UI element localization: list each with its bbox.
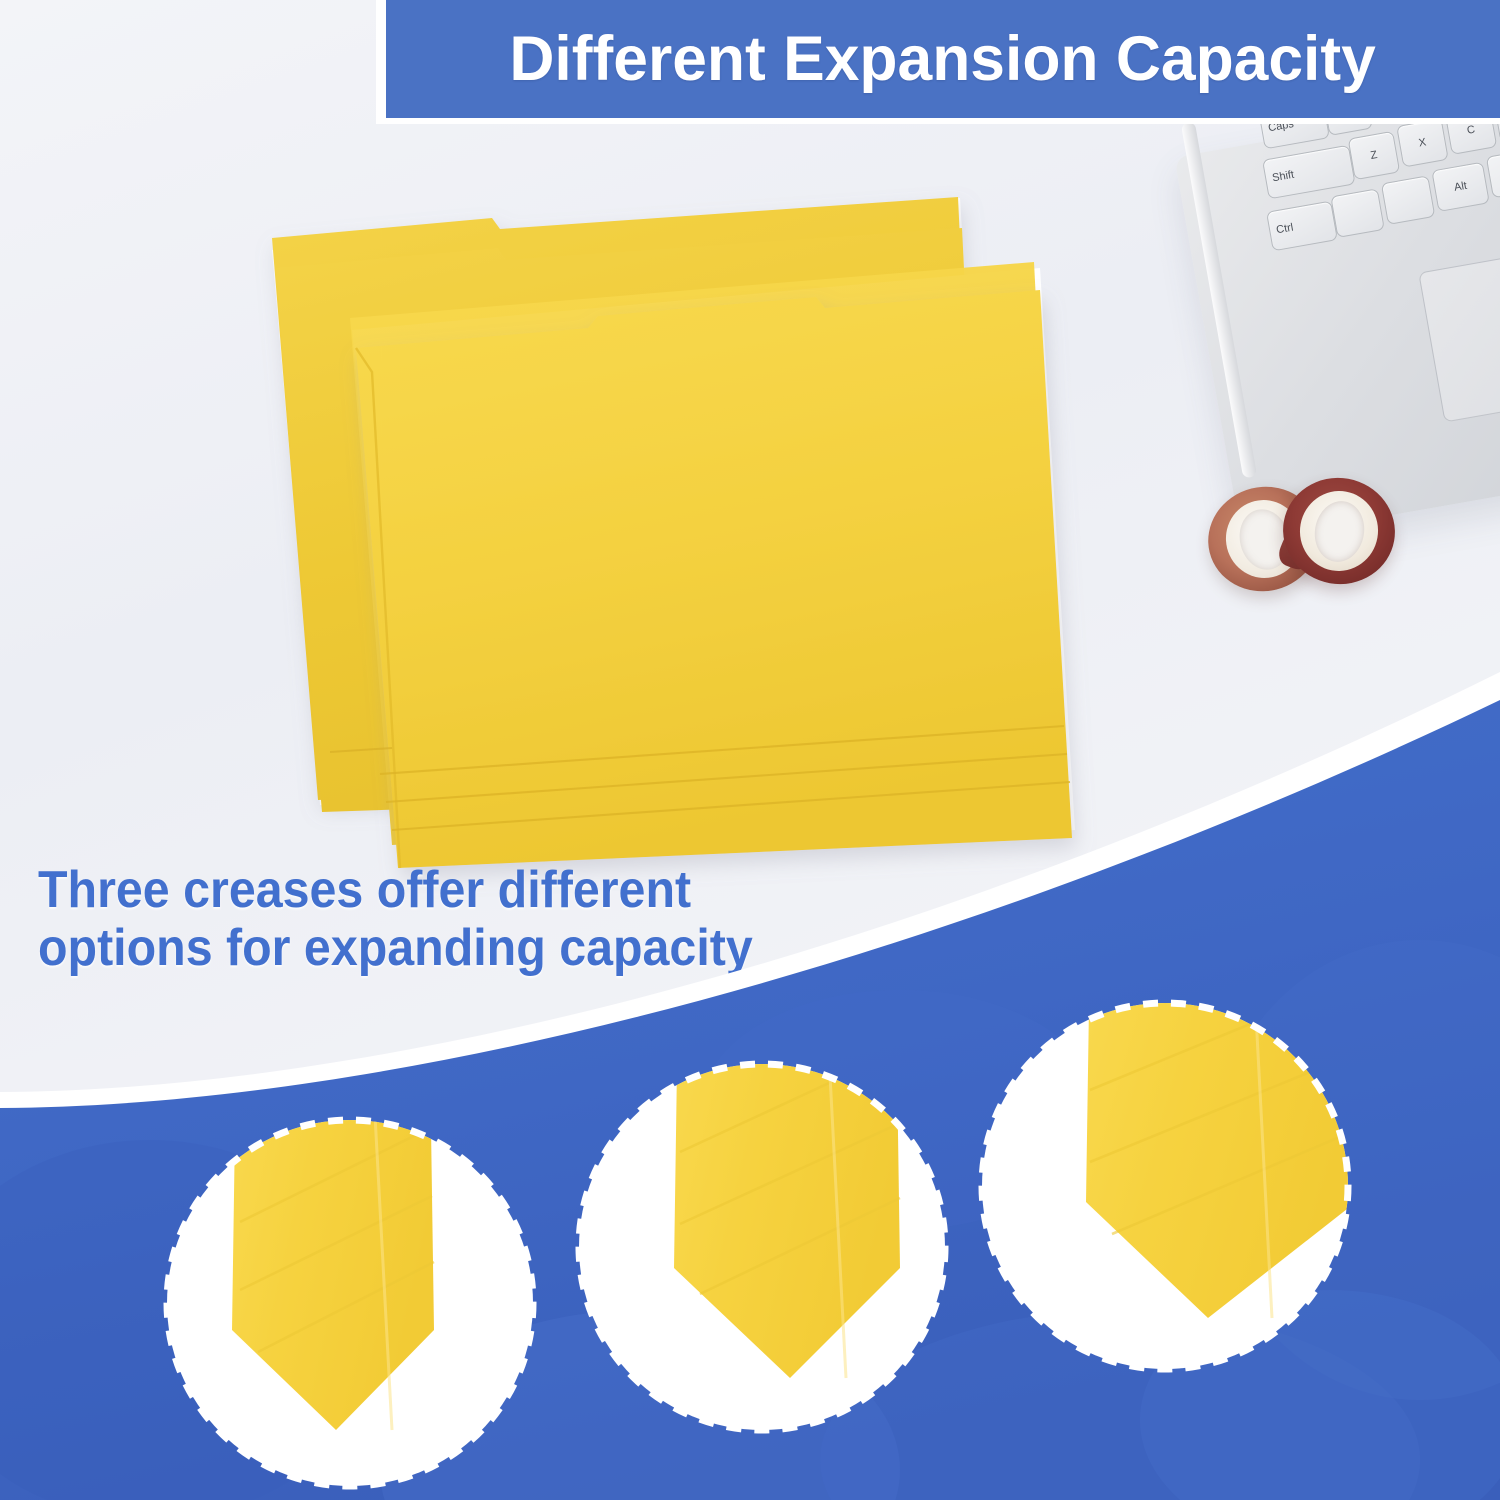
feature-caption-line-1: Three creases offer different <box>38 862 856 920</box>
header-banner: Different Expansion Capacity <box>386 0 1500 118</box>
page-title: Different Expansion Capacity <box>510 23 1376 95</box>
feature-caption: Three creases offer different options fo… <box>38 862 856 977</box>
crease-detail-circle-2-dashed-border <box>579 1064 945 1430</box>
front-folder-front-panel <box>356 290 1072 868</box>
infographic-root: Caps A Shift Z X C Ctrl Alt <box>0 0 1500 1500</box>
front-folder-group <box>350 262 1075 868</box>
crease-detail-circle-1-bg <box>167 1120 533 1486</box>
crease-detail-circle-1 <box>167 1060 533 1486</box>
feature-caption-line-2: options for expanding capacity <box>38 920 856 978</box>
crease-detail-circle-1-dashed-border <box>167 1120 533 1486</box>
crease-detail-circle-2 <box>579 1000 945 1430</box>
crease-wedge-1 <box>232 1060 434 1430</box>
crease-detail-circle-2-bg <box>579 1064 945 1430</box>
